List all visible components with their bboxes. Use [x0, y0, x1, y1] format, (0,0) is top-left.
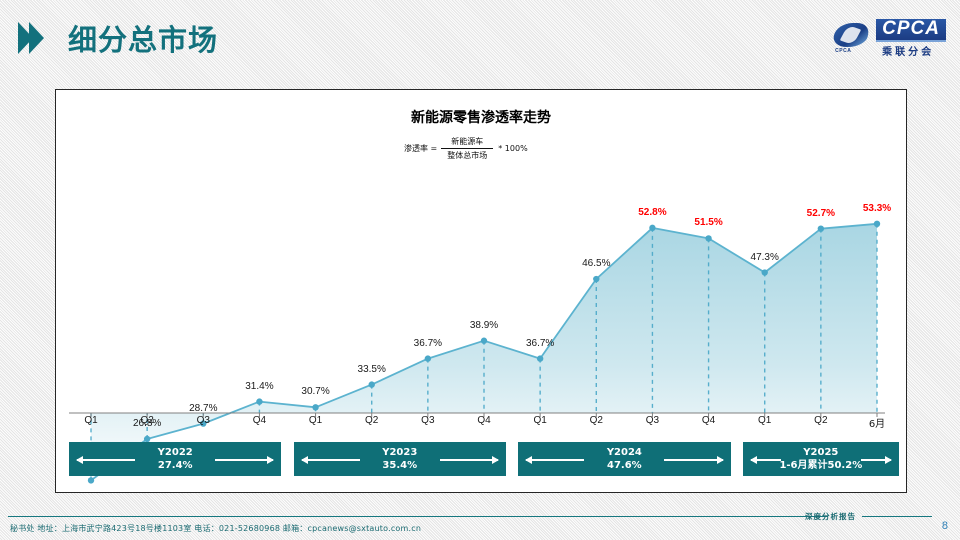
x-axis-label-2: Q3: [197, 415, 210, 426]
data-label-6月-14: 53.3%: [863, 203, 891, 214]
x-axis-label-10: Q3: [646, 415, 659, 426]
arrow-left-icon: [302, 459, 360, 461]
year-bar-year: Y2023: [382, 447, 417, 458]
year-bar-year: Y2025: [779, 447, 862, 458]
year-bar-Y2022: Y202227.4%: [69, 442, 281, 476]
year-bar-Y2024: Y202447.6%: [518, 442, 730, 476]
x-axis-label-13: Q2: [814, 415, 827, 426]
footer-brand: 深度分析报告: [805, 511, 856, 522]
arrow-right-icon: [861, 459, 891, 461]
data-label-Q4-3: 31.4%: [245, 381, 273, 392]
year-bar-value: 27.4%: [158, 460, 193, 471]
year-bar-year: Y2022: [158, 447, 193, 458]
year-bar-year: Y2024: [607, 447, 642, 458]
x-axis-label-14: 6月: [869, 415, 885, 430]
year-bar-text: Y202335.4%: [382, 447, 417, 471]
x-axis-label-0: Q1: [84, 415, 97, 426]
x-axis-label-9: Q2: [590, 415, 603, 426]
year-bar-text: Y20251-6月累计50.2%: [779, 447, 862, 471]
double-chevron-right-icon: [18, 22, 44, 54]
x-axis-label-5: Q2: [365, 415, 378, 426]
year-bar-text: Y202447.6%: [607, 447, 642, 471]
cpca-logo: CPCA CPCA 乘联分会: [832, 20, 946, 56]
logo-mark-sub: CPCA: [835, 48, 851, 54]
data-label-Q4-11: 51.5%: [694, 217, 722, 228]
arrow-left-icon: [526, 459, 584, 461]
year-bar-text: Y202227.4%: [158, 447, 193, 471]
x-axis-label-6: Q3: [421, 415, 434, 426]
x-axis-label-7: Q4: [477, 415, 490, 426]
page-header: 细分总市场 CPCA CPCA 乘联分会: [0, 0, 960, 72]
footer-divider-right: [862, 516, 932, 517]
data-label-Q2-5: 33.5%: [358, 364, 386, 375]
logo-acronym: CPCA: [876, 19, 946, 42]
x-axis-label-1: Q2: [140, 415, 153, 426]
footer-contact-info: 秘书处 地址：上海市武宁路423号18号楼1103室 电话：021-526809…: [10, 523, 421, 534]
chevron-right-icon-2: [29, 22, 44, 54]
year-bar-value: 35.4%: [382, 460, 417, 471]
arrow-left-icon: [751, 459, 781, 461]
data-label-Q1-4: 30.7%: [301, 386, 329, 397]
logo-text: CPCA 乘联分会: [876, 19, 946, 58]
arrow-right-icon: [440, 459, 498, 461]
x-axis-label-11: Q4: [702, 415, 715, 426]
arrow-left-icon: [77, 459, 135, 461]
year-bar-Y2023: Y202335.4%: [294, 442, 506, 476]
x-axis-label-4: Q1: [309, 415, 322, 426]
x-axis-label-12: Q1: [758, 415, 771, 426]
logo-chinese-name: 乘联分会: [876, 43, 934, 58]
arrow-right-icon: [215, 459, 273, 461]
data-label-Q2-9: 46.5%: [582, 258, 610, 269]
data-label-Q1-12: 47.3%: [751, 252, 779, 263]
chart-panel: 新能源零售渗透率走势 渗透率 = 新能源车 整体总市场 * 100% 21.7%…: [55, 89, 907, 493]
footer-divider-left: [8, 516, 828, 517]
page-number: 8: [942, 520, 948, 532]
cpca-swoosh-icon: CPCA: [832, 22, 872, 54]
x-axis-label-8: Q1: [533, 415, 546, 426]
year-bar-Y2025: Y20251-6月累计50.2%: [743, 442, 899, 476]
data-label-Q3-10: 52.8%: [638, 207, 666, 218]
year-bar-value: 1-6月累计50.2%: [779, 460, 862, 471]
x-axis-label-3: Q4: [253, 415, 266, 426]
data-label-Q4-7: 38.9%: [470, 320, 498, 331]
area-chart-plot: [56, 90, 908, 494]
year-bar-value: 47.6%: [607, 460, 642, 471]
arrow-right-icon: [664, 459, 722, 461]
data-label-Q1-8: 36.7%: [526, 338, 554, 349]
data-label-Q3-6: 36.7%: [414, 338, 442, 349]
page-title: 细分总市场: [68, 17, 218, 59]
page-footer: 深度分析报告 秘书处 地址：上海市武宁路423号18号楼1103室 电话：021…: [0, 504, 960, 540]
data-label-Q3-2: 28.7%: [189, 403, 217, 414]
data-label-Q2-13: 52.7%: [807, 208, 835, 219]
